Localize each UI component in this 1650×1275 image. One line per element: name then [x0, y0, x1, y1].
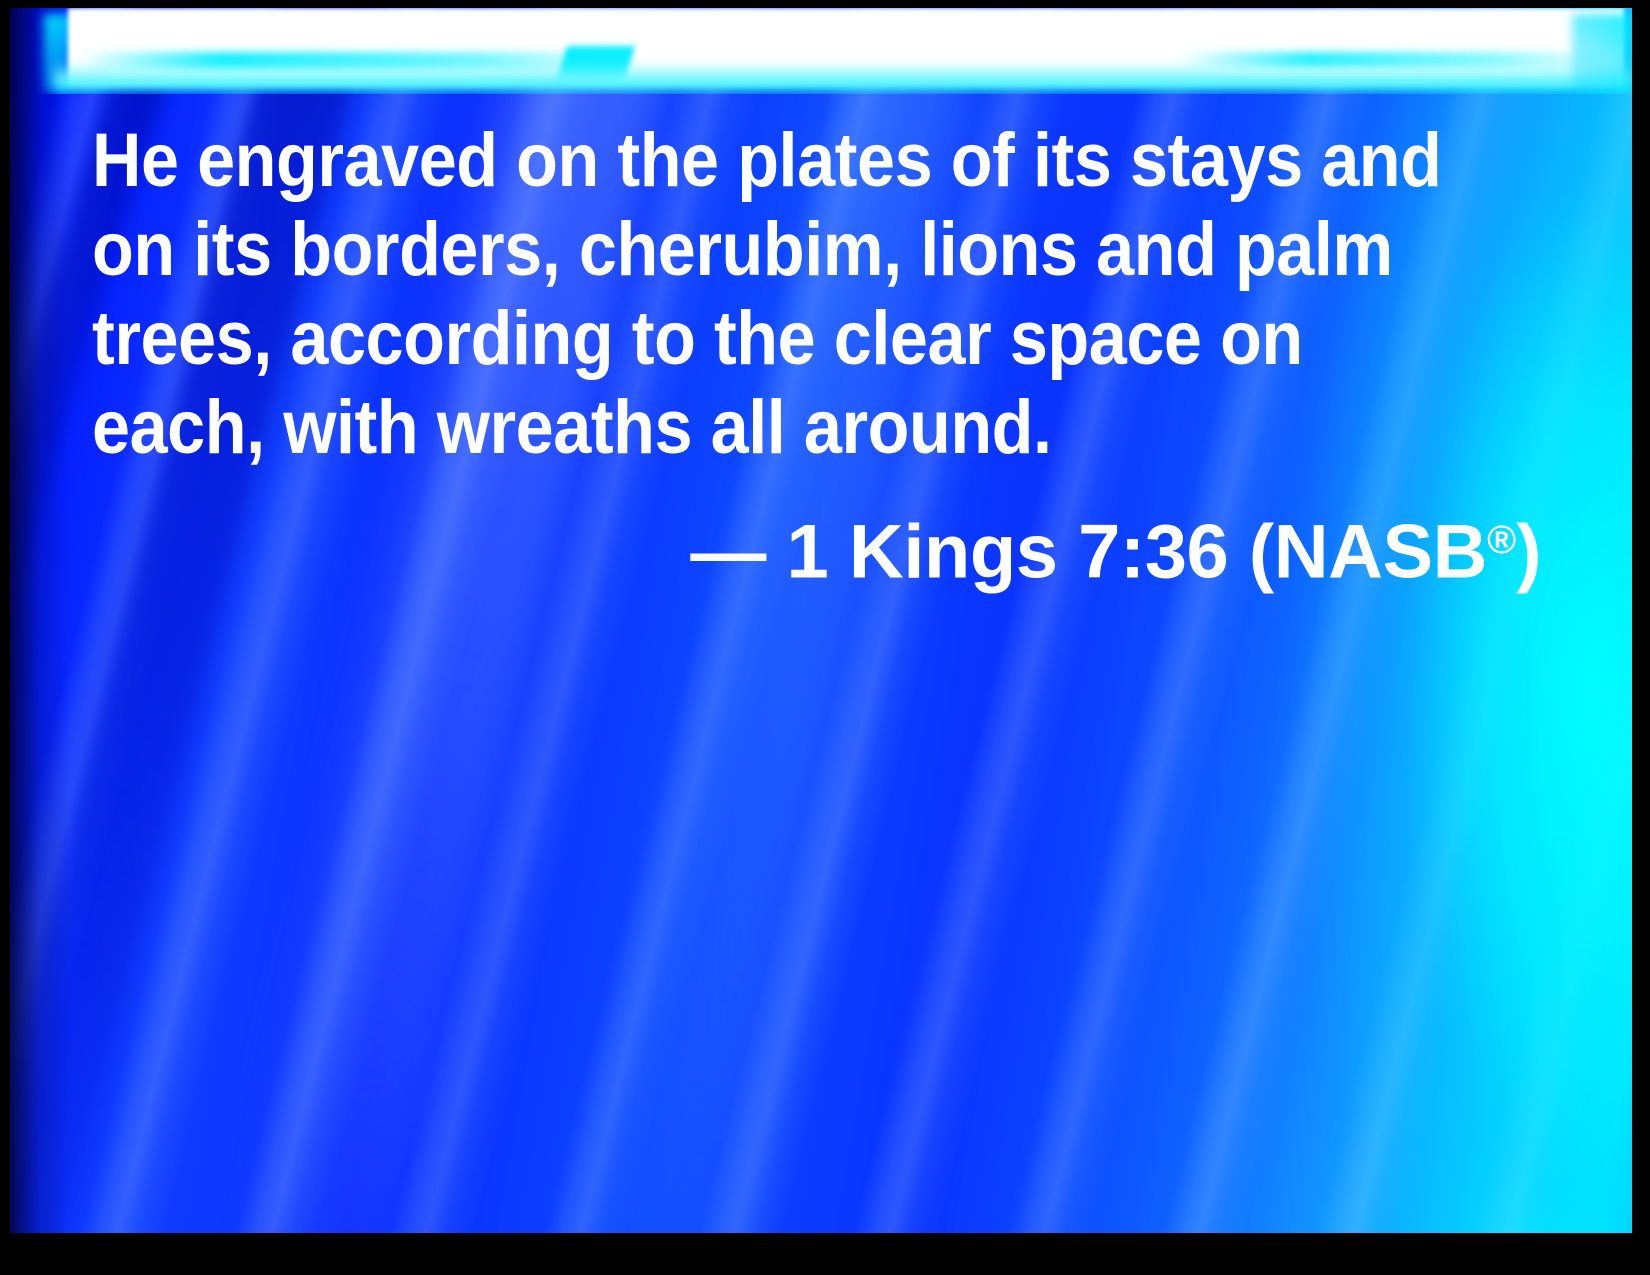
slide-frame: He engraved on the plates of its stays a…: [0, 0, 1650, 1275]
registered-trademark-icon: ®: [1487, 518, 1516, 562]
slide-canvas: He engraved on the plates of its stays a…: [10, 8, 1632, 1233]
attribution-dash: —: [690, 510, 766, 595]
attribution-spacer-2: [1228, 510, 1249, 595]
attribution-version-close: ): [1516, 510, 1541, 595]
background-left-shadow: [10, 8, 70, 1233]
attribution-version-open: (NASB: [1249, 510, 1487, 595]
verse-line-3: trees, according to the clear space on: [92, 294, 1402, 383]
top-glow-right-wedge: [1572, 14, 1632, 94]
attribution-spacer: [766, 510, 787, 595]
verse-line-1: He engraved on the plates of its stays a…: [92, 116, 1402, 205]
verse-attribution: — 1 Kings 7:36 (NASB®): [92, 472, 1547, 597]
verse-text-block: He engraved on the plates of its stays a…: [92, 116, 1547, 597]
top-glow-cyan-underline: [54, 62, 1632, 92]
verse-line-2: on its borders, cherubim, lions and palm: [92, 205, 1402, 294]
attribution-reference: 1 Kings 7:36: [787, 510, 1229, 595]
top-glow-banner: [10, 8, 1632, 94]
verse-line-4: each, with wreaths all around.: [92, 383, 1402, 472]
